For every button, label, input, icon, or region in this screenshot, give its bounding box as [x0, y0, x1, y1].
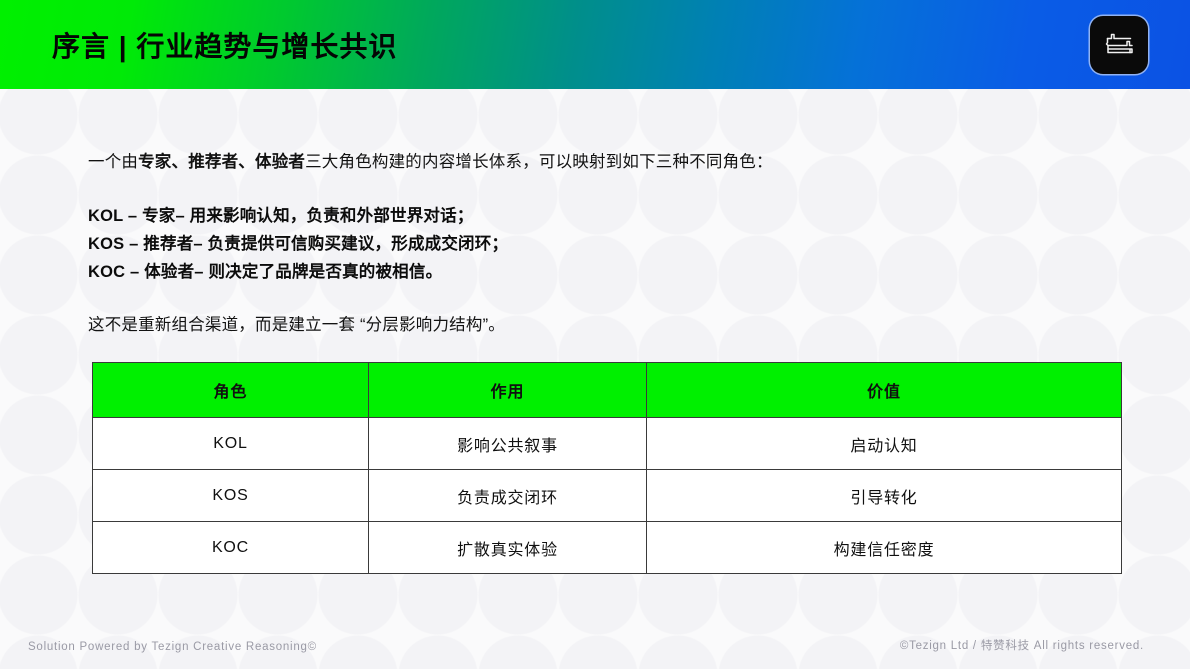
cell-value: 启动认知 — [647, 418, 1122, 470]
interlocking-thumbs-icon — [1099, 25, 1139, 65]
table-row: KOS 负责成交闭环 引导转化 — [93, 470, 1122, 522]
outro-paragraph: 这不是重新组合渠道，而是建立一套 “分层影响力结构”。 — [88, 313, 1112, 339]
slide-root: 序言 | 行业趋势与增长共识 一个由专家、推荐者、体验者三大角色构建的内容增长体… — [0, 0, 1190, 669]
role-definition-list: KOL – 专家– 用来影响认知，负责和外部世界对话； KOS – 推荐者– 负… — [88, 202, 1112, 287]
cell-use: 影响公共叙事 — [369, 418, 647, 470]
footer-copyright: ©Tezign Ltd / 特赞科技 All rights reserved. — [900, 637, 1144, 653]
cell-role: KOL — [93, 418, 369, 470]
cell-use: 负责成交闭环 — [369, 470, 647, 522]
page-title: 序言 | 行业趋势与增长共识 — [52, 0, 397, 89]
footer-attribution: Solution Powered by Tezign Creative Reas… — [28, 641, 317, 653]
cell-value: 构建信任密度 — [647, 522, 1122, 574]
slide-header: 序言 | 行业趋势与增长共识 — [0, 0, 1190, 89]
table-header-role: 角色 — [93, 363, 369, 418]
table-header-use: 作用 — [369, 363, 647, 418]
brand-logo — [1090, 16, 1148, 74]
intro-paragraph: 一个由专家、推荐者、体验者三大角色构建的内容增长体系，可以映射到如下三种不同角色… — [88, 150, 1112, 176]
cell-use: 扩散真实体验 — [369, 522, 647, 574]
intro-part1: 一个由 — [88, 153, 138, 171]
cell-role: KOS — [93, 470, 369, 522]
role-line-kos: KOS – 推荐者– 负责提供可信购买建议，形成成交闭环； — [88, 230, 1112, 258]
table-row: KOC 扩散真实体验 构建信任密度 — [93, 522, 1122, 574]
table-header-value: 价值 — [647, 363, 1122, 418]
intro-bold: 专家、推荐者、体验者 — [138, 153, 305, 171]
cell-value: 引导转化 — [647, 470, 1122, 522]
role-line-kol: KOL – 专家– 用来影响认知，负责和外部世界对话； — [88, 202, 1112, 230]
table-header-row: 角色 作用 价值 — [93, 363, 1122, 418]
body-content: 一个由专家、推荐者、体验者三大角色构建的内容增长体系，可以映射到如下三种不同角色… — [88, 150, 1112, 338]
role-line-koc: KOC – 体验者– 则决定了品牌是否真的被相信。 — [88, 258, 1112, 286]
table-row: KOL 影响公共叙事 启动认知 — [93, 418, 1122, 470]
cell-role: KOC — [93, 522, 369, 574]
role-comparison-table: 角色 作用 价值 KOL 影响公共叙事 启动认知 KOS 负责成交闭环 引导转化… — [92, 362, 1122, 574]
intro-part2: 三大角色构建的内容增长体系，可以映射到如下三种不同角色： — [305, 153, 773, 171]
